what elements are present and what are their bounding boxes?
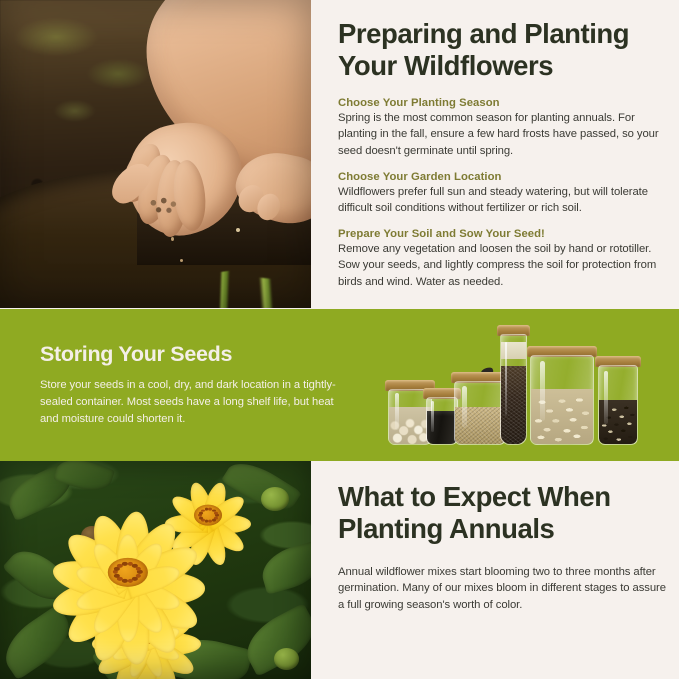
content-block: Choose Your Garden Location Wildflowers …	[338, 171, 671, 217]
subheading: Choose Your Garden Location	[338, 171, 671, 183]
infographic-root: Preparing and Planting Your Wildflowers …	[0, 0, 679, 679]
glass-body	[598, 365, 638, 445]
glass-body	[454, 381, 506, 445]
glass-highlight	[431, 401, 434, 432]
photo-hand-planting-seeds-in-soil	[0, 0, 311, 308]
glass-highlight	[395, 393, 399, 430]
seed-jar	[454, 381, 506, 445]
section-storing-your-seeds: Storing Your Seeds Store your seeds in a…	[0, 309, 679, 461]
section-what-to-expect: What to Expect When Planting Annuals Ann…	[0, 461, 679, 679]
seed-jar	[530, 355, 594, 445]
photo-vignette	[0, 0, 311, 308]
glass-highlight	[540, 361, 546, 421]
subheading: Prepare Your Soil and Sow Your Seed!	[338, 228, 671, 240]
body-text: Store your seeds in a cool, dry, and dar…	[40, 377, 340, 427]
section-title: What to Expect When Planting Annuals	[338, 481, 671, 545]
content-block: Prepare Your Soil and Sow Your Seed! Rem…	[338, 228, 671, 291]
glass-body	[530, 355, 594, 445]
seed-jar	[500, 334, 527, 445]
glass-body	[500, 334, 527, 445]
body-text: Spring is the most common season for pla…	[338, 110, 671, 160]
photo-yellow-coreopsis-flowers	[0, 461, 311, 679]
text-column-bottom: What to Expect When Planting Annuals Ann…	[338, 461, 679, 679]
photo-vignette	[0, 461, 311, 679]
section-preparing-and-planting: Preparing and Planting Your Wildflowers …	[0, 0, 679, 309]
page-title: Preparing and Planting Your Wildflowers	[338, 18, 671, 82]
seed-jar	[598, 365, 638, 445]
subheading: Choose Your Planting Season	[338, 97, 671, 109]
section-title: Storing Your Seeds	[40, 342, 340, 367]
glass-highlight	[505, 342, 507, 416]
text-column-green: Storing Your Seeds Store your seeds in a…	[40, 342, 340, 427]
content-block: Choose Your Planting Season Spring is th…	[338, 97, 671, 160]
body-text: Wildflowers prefer full sun and steady w…	[338, 184, 671, 217]
glass-highlight	[462, 386, 467, 428]
glass-highlight	[604, 371, 607, 424]
photo-glass-jars-of-seeds	[388, 327, 650, 445]
body-text: Annual wildflower mixes start blooming t…	[338, 564, 671, 614]
text-column-top: Preparing and Planting Your Wildflowers …	[338, 0, 679, 309]
body-text: Remove any vegetation and loosen the soi…	[338, 241, 671, 291]
